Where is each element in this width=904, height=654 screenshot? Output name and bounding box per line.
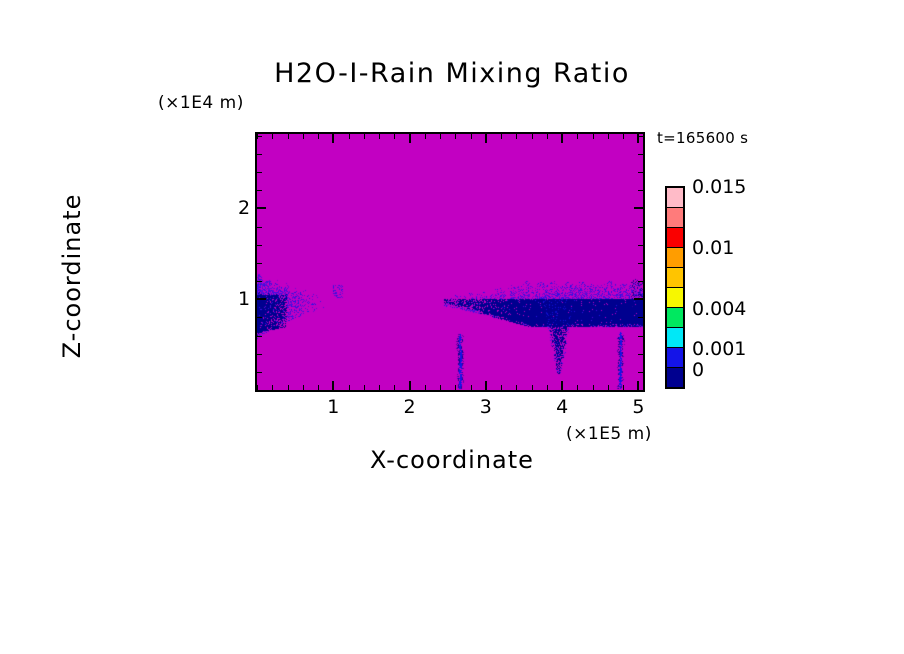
colorbar-band: [667, 368, 683, 387]
x-axis-multiplier-label: (×1E5 m): [566, 424, 652, 444]
colorbar-band: [667, 188, 683, 208]
heatmap-plot-area: [255, 132, 645, 392]
x-axis-title: X-coordinate: [0, 446, 904, 474]
colorbar-band: [667, 248, 683, 268]
x-tick-label: 5: [632, 396, 644, 418]
colorbar-band: [667, 228, 683, 248]
colorbar-label: 0.001: [692, 338, 746, 360]
colorbar-label: 0.01: [692, 237, 734, 259]
x-tick-label: 2: [404, 396, 416, 418]
time-annotation: t=165600 s: [657, 129, 748, 147]
colorbar-label: 0.004: [692, 298, 746, 320]
heatmap-field-canvas: [257, 134, 643, 390]
colorbar-band: [667, 348, 683, 368]
colorbar-band: [667, 288, 683, 308]
colorbar-band: [667, 208, 683, 228]
colorbar-label: 0: [692, 359, 704, 381]
y-tick-label: 2: [238, 197, 250, 219]
z-axis-multiplier-label: (×1E4 m): [158, 93, 244, 113]
x-tick-label: 1: [327, 396, 339, 418]
colorbar-band: [667, 308, 683, 328]
x-tick-label: 4: [556, 396, 568, 418]
y-axis-title: Z-coordinate: [58, 116, 86, 436]
y-tick-label: 1: [238, 288, 250, 310]
colorbar-band: [667, 268, 683, 288]
colorbar-label: 0.015: [692, 176, 746, 198]
x-tick-label: 3: [480, 396, 492, 418]
colorbar: [665, 186, 685, 389]
colorbar-band: [667, 328, 683, 348]
page-title: H2O-I-Rain Mixing Ratio: [0, 58, 904, 89]
